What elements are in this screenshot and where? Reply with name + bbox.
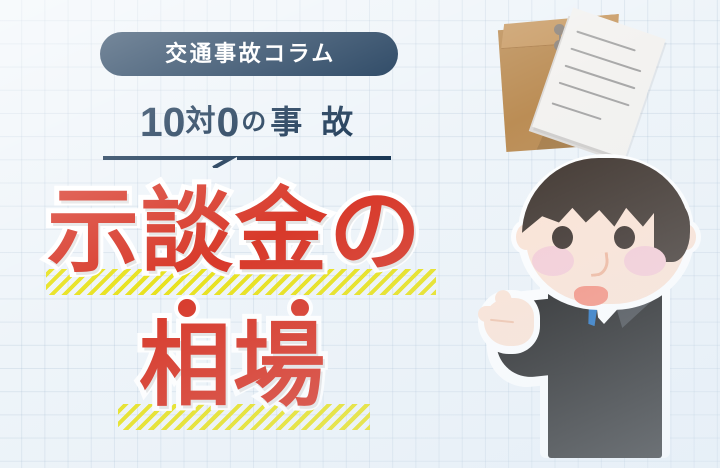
subtitle-tai: 対 (185, 107, 216, 137)
document-text-line (570, 48, 641, 73)
eye-left (552, 226, 573, 249)
subtitle-no: の (239, 110, 270, 135)
subtitle-underline (103, 152, 391, 168)
businessman-illustration (486, 150, 720, 468)
category-badge[interactable]: 交通事故コラム (100, 32, 398, 76)
document-text-line (559, 82, 630, 107)
document-text-line (576, 30, 636, 51)
subtitle: 10対0の事 故 (103, 96, 395, 148)
headline-line-2: 相場 (0, 320, 468, 412)
eye-right (614, 226, 635, 249)
blush-right (624, 246, 666, 276)
subtitle-ratio-left: 10 (140, 102, 186, 143)
category-badge-label: 交通事故コラム (162, 43, 336, 65)
headline-line-1: 示談金の (0, 186, 470, 278)
banner-canvas: 交通事故コラム 10対0の事 故 示談金の 相場 (0, 0, 720, 468)
envelope-and-documents-illustration (494, 4, 720, 160)
document-text-line (552, 102, 602, 120)
subtitle-jiko: 事 故 (270, 106, 358, 138)
mouth (574, 286, 608, 306)
document-text-line (565, 65, 636, 90)
subtitle-ratio-right: 0 (216, 102, 239, 143)
blush-left (532, 246, 574, 276)
